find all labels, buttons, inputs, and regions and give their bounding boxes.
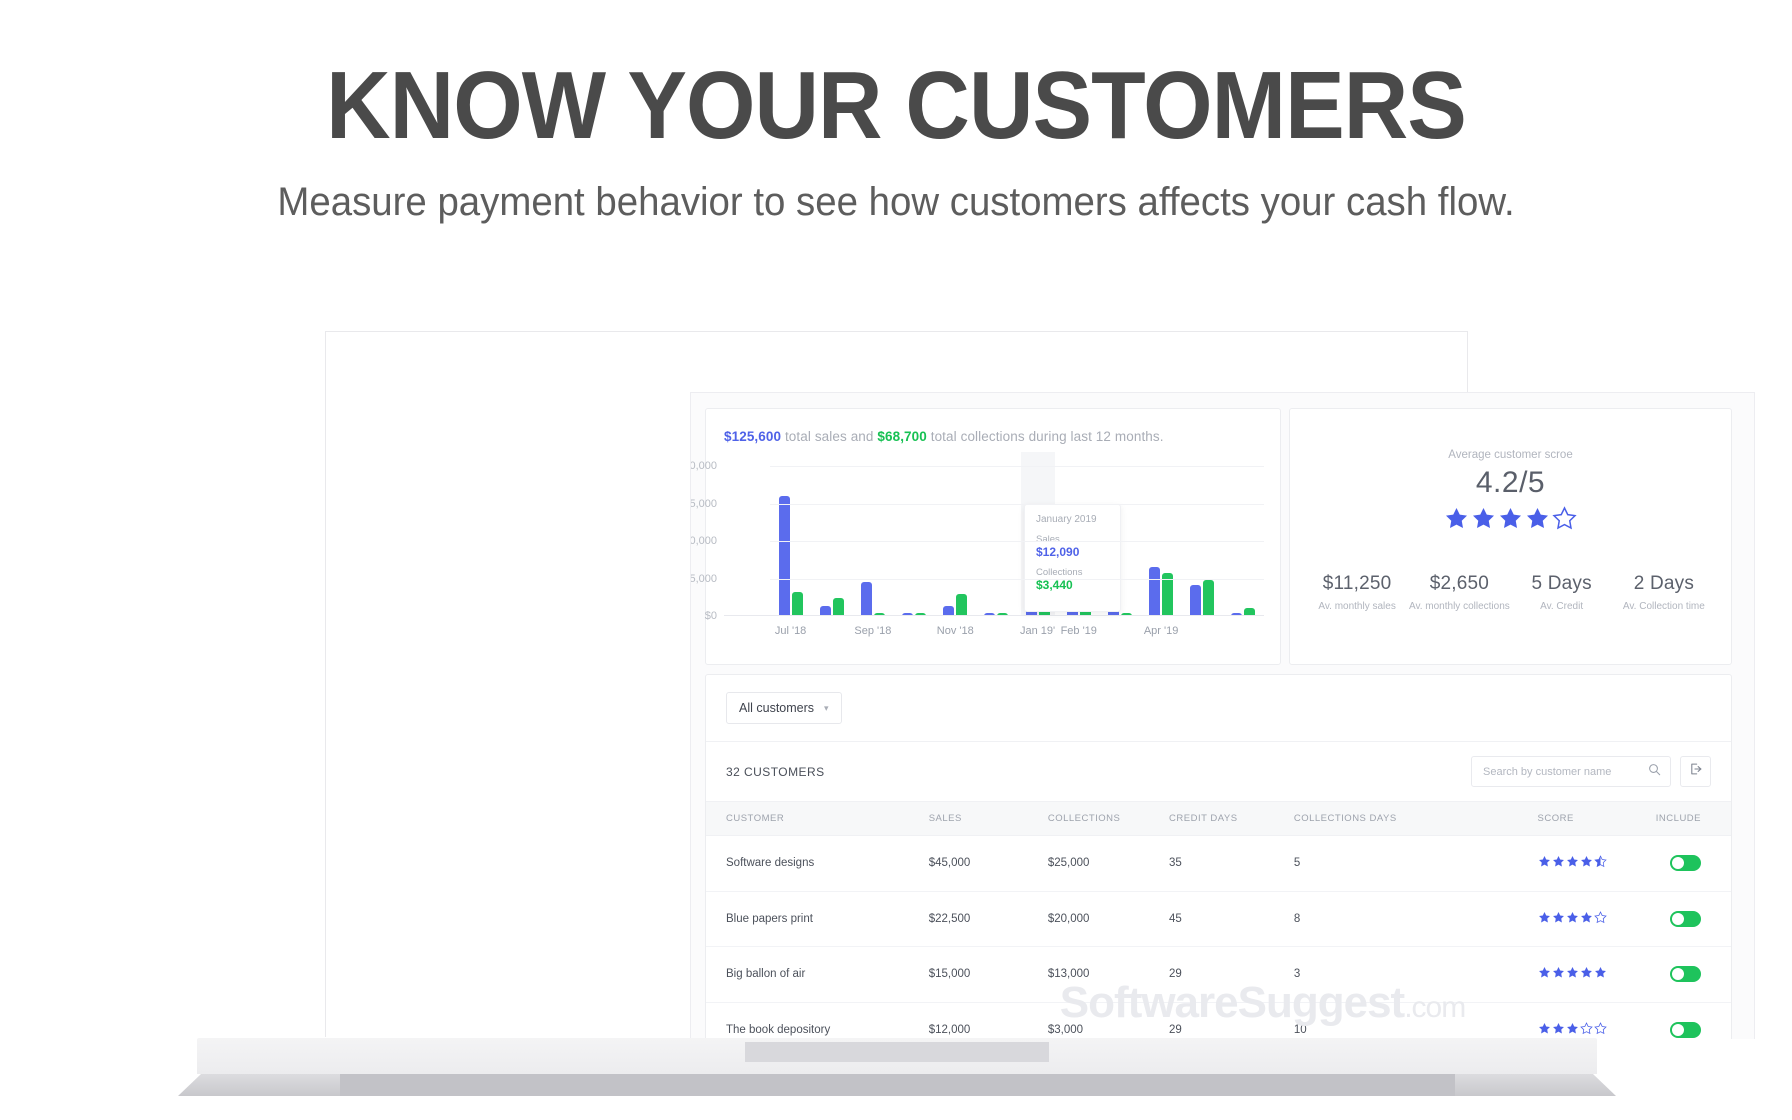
cell-customer: The book depository: [706, 1002, 929, 1039]
customer-filter-label: All customers: [739, 701, 814, 715]
dashboard-viewport: $125,600 total sales and $68,700 total c…: [690, 392, 1755, 1039]
table-row[interactable]: Software designs $45,000 $25,000 35 5: [706, 836, 1731, 892]
chart-gridline: [770, 579, 1264, 580]
star-icon-full: [1538, 966, 1551, 979]
cell-sales: $15,000: [929, 947, 1048, 1003]
star-icon-full: [1538, 855, 1551, 868]
table-column-header[interactable]: CUSTOMER: [706, 802, 929, 836]
summary-stat-1: $2,650 Av. monthly collections: [1408, 573, 1510, 614]
cell-include: [1656, 947, 1731, 1003]
total-sales-value: $125,600: [724, 429, 781, 444]
cell-score: [1538, 836, 1656, 892]
filter-bar: All customers ▾: [706, 675, 1731, 742]
chart-bar-collections: [1203, 580, 1214, 616]
customers-table-card: All customers ▾ 32 CUSTOMERS: [705, 674, 1732, 1039]
cell-credit-days: 29: [1169, 947, 1294, 1003]
chart-zero-axis: [724, 615, 1264, 616]
chart-bar-collections: [1162, 573, 1173, 616]
include-toggle[interactable]: [1670, 1022, 1701, 1038]
table-row[interactable]: Big ballon of air $15,000 $13,000 29 3: [706, 947, 1731, 1003]
chart-y-tick: $5,000: [690, 573, 717, 585]
star-icon-full: [1444, 506, 1469, 531]
chart-tooltip: January 2019 Sales $12,090 Collections $…: [1024, 504, 1121, 612]
customer-score-card: Average customer scroe 4.2/5 $11,250 Av.…: [1289, 408, 1732, 665]
cell-include: [1656, 891, 1731, 947]
chart-x-tick: Jul '18: [775, 625, 806, 637]
cell-customer: Software designs: [706, 836, 929, 892]
cell-sales: $45,000: [929, 836, 1048, 892]
table-header-row: CUSTOMERSALESCOLLECTIONSCREDIT DAYSCOLLE…: [706, 802, 1731, 836]
cell-collections: $25,000: [1048, 836, 1169, 892]
star-icon-full: [1566, 966, 1579, 979]
cell-credit-days: 45: [1169, 891, 1294, 947]
chart-x-tick: Feb '19: [1061, 625, 1097, 637]
chart-bar-group[interactable]: [779, 496, 803, 616]
star-icon-full: [1566, 1022, 1579, 1035]
tooltip-sales-value: $12,090: [1036, 545, 1110, 559]
customer-count-label: 32 CUSTOMERS: [726, 765, 825, 779]
summary-stat-value: $11,250: [1306, 573, 1408, 595]
star-icon-full: [1580, 966, 1593, 979]
search-icon[interactable]: [1648, 763, 1661, 781]
tooltip-sales-label: Sales: [1036, 534, 1110, 545]
star-icon-full: [1471, 506, 1496, 531]
summary-stat-label: Av. Collection time: [1613, 600, 1715, 614]
cell-sales: $12,000: [929, 1002, 1048, 1039]
chart-gridline: [770, 504, 1264, 505]
laptop-trackpad-notch: [745, 1042, 1049, 1062]
customer-filter-dropdown[interactable]: All customers ▾: [726, 692, 842, 724]
chart-bar-sales: [1190, 585, 1201, 617]
cell-collections-days: 10: [1294, 1002, 1538, 1039]
chart-bar-group[interactable]: [861, 582, 885, 617]
average-score-value: 4.2/5: [1290, 466, 1731, 500]
score-stars: [1538, 970, 1608, 982]
summary-stat-value: 5 Days: [1511, 573, 1613, 595]
star-icon-empty: [1580, 1022, 1593, 1035]
chart-bar-sales: [779, 496, 790, 616]
average-score-label: Average customer scroe: [1290, 449, 1731, 461]
cell-collections-days: 8: [1294, 891, 1538, 947]
cell-credit-days: 29: [1169, 1002, 1294, 1039]
cell-include: [1656, 836, 1731, 892]
bar-chart: January 2019 Sales $12,090 Collections $…: [724, 466, 1264, 616]
star-icon-full: [1594, 966, 1607, 979]
chart-y-tick: $10,000: [690, 535, 717, 547]
table-toolbar: 32 CUSTOMERS: [706, 742, 1731, 801]
summary-stat-label: Av. monthly sales: [1306, 600, 1408, 614]
chart-x-tick: Apr '19: [1144, 625, 1179, 637]
summary-stat-label: Av. Credit: [1511, 600, 1613, 614]
cell-customer: Blue papers print: [706, 891, 929, 947]
cell-collections: $3,000: [1048, 1002, 1169, 1039]
summary-stats-row: $11,250 Av. monthly sales $2,650 Av. mon…: [1290, 573, 1731, 614]
chart-bar-collections: [833, 598, 844, 616]
chevron-down-icon: ▾: [824, 703, 829, 714]
table-body: Software designs $45,000 $25,000 35 5 Bl…: [706, 836, 1731, 1040]
table-column-header[interactable]: SCORE: [1538, 802, 1656, 836]
chart-bar-group[interactable]: [820, 598, 844, 616]
tooltip-collections-value: $3,440: [1036, 578, 1110, 592]
star-icon-full: [1498, 506, 1523, 531]
cell-collections: $20,000: [1048, 891, 1169, 947]
table-column-header[interactable]: SALES: [929, 802, 1048, 836]
total-collections-value: $68,700: [877, 429, 927, 444]
cell-customer: Big ballon of air: [706, 947, 929, 1003]
cell-collections: $13,000: [1048, 947, 1169, 1003]
table-column-header[interactable]: INCLUDE: [1656, 802, 1731, 836]
cell-sales: $22,500: [929, 891, 1048, 947]
caption-tail: total collections during last 12 months.: [927, 429, 1164, 444]
cell-score: [1538, 947, 1656, 1003]
chart-bar-sales: [1149, 567, 1160, 616]
star-icon-full: [1566, 911, 1579, 924]
star-icon-empty: [1552, 506, 1577, 531]
star-icon-full: [1538, 1022, 1551, 1035]
summary-stat-2: 5 Days Av. Credit: [1511, 573, 1613, 614]
table-column-header[interactable]: COLLECTIONS DAYS: [1294, 802, 1538, 836]
table-column-header[interactable]: COLLECTIONS: [1048, 802, 1169, 836]
chart-y-tick: $15,000: [690, 498, 717, 510]
chart-caption: $125,600 total sales and $68,700 total c…: [724, 429, 1262, 444]
export-button[interactable]: [1680, 756, 1711, 787]
score-stars: [1538, 915, 1608, 927]
star-icon-full: [1566, 855, 1579, 868]
tooltip-collections-label: Collections: [1036, 567, 1110, 578]
table-column-header[interactable]: CREDIT DAYS: [1169, 802, 1294, 836]
summary-stat-0: $11,250 Av. monthly sales: [1306, 573, 1408, 614]
chart-bar-group[interactable]: [1190, 580, 1214, 616]
star-icon-full: [1538, 911, 1551, 924]
summary-stat-label: Av. monthly collections: [1408, 600, 1510, 614]
star-icon-full: [1552, 1022, 1565, 1035]
cell-score: [1538, 891, 1656, 947]
cell-credit-days: 35: [1169, 836, 1294, 892]
dashboard-top-row: $125,600 total sales and $68,700 total c…: [691, 393, 1754, 665]
chart-bar-collections: [956, 594, 967, 617]
star-icon-full: [1552, 855, 1565, 868]
score-stars: [1538, 1026, 1608, 1038]
star-icon-empty: [1594, 1022, 1607, 1035]
chart-x-tick: Jan 19': [1020, 625, 1055, 637]
chart-x-tick: Nov '18: [937, 625, 974, 637]
star-icon-full: [1552, 911, 1565, 924]
include-toggle[interactable]: [1670, 966, 1701, 982]
chart-bar-collections: [792, 592, 803, 616]
score-stars: [1538, 859, 1608, 871]
caption-mid: total sales and: [781, 429, 877, 444]
star-icon-full: [1552, 966, 1565, 979]
star-icon-full: [1580, 911, 1593, 924]
table-row[interactable]: Blue papers print $22,500 $20,000 45 8: [706, 891, 1731, 947]
customers-table: CUSTOMERSALESCOLLECTIONSCREDIT DAYSCOLLE…: [706, 801, 1731, 1039]
summary-stat-value: $2,650: [1408, 573, 1510, 595]
cell-score: [1538, 1002, 1656, 1039]
cell-include: [1656, 1002, 1731, 1039]
export-icon: [1689, 762, 1703, 781]
average-score-stars: [1290, 506, 1731, 535]
page-subtitle: Measure payment behavior to see how cust…: [36, 180, 1756, 225]
laptop-mockup: $125,600 total sales and $68,700 total c…: [0, 320, 1792, 1120]
search-input[interactable]: [1483, 766, 1642, 778]
summary-stat-value: 2 Days: [1613, 573, 1715, 595]
cell-collections-days: 5: [1294, 836, 1538, 892]
cell-collections-days: 3: [1294, 947, 1538, 1003]
include-toggle[interactable]: [1670, 855, 1701, 871]
chart-bar-group[interactable]: [943, 594, 967, 617]
star-icon-full: [1580, 855, 1593, 868]
chart-x-tick: Sep '18: [854, 625, 891, 637]
chart-y-tick: $20,000: [690, 460, 717, 472]
chart-bar-group[interactable]: [1149, 567, 1173, 616]
hero-section: KNOW YOUR CUSTOMERS Measure payment beha…: [0, 0, 1792, 225]
sales-collections-chart-card: $125,600 total sales and $68,700 total c…: [705, 408, 1281, 665]
star-icon-full: [1525, 506, 1550, 531]
table-row[interactable]: The book depository $12,000 $3,000 29 10: [706, 1002, 1731, 1039]
laptop-foot-lip: [340, 1074, 1455, 1096]
search-box[interactable]: [1471, 756, 1671, 787]
star-icon-empty: [1594, 911, 1607, 924]
include-toggle[interactable]: [1670, 911, 1701, 927]
star-icon-half: [1594, 855, 1607, 868]
tooltip-date: January 2019: [1036, 514, 1110, 525]
page-title: KNOW YOUR CUSTOMERS: [63, 58, 1730, 154]
laptop-screen: $125,600 total sales and $68,700 total c…: [325, 331, 1468, 1037]
summary-stat-3: 2 Days Av. Collection time: [1613, 573, 1715, 614]
chart-bar-sales: [861, 582, 872, 617]
chart-gridline: [770, 541, 1264, 542]
chart-y-tick: $0: [705, 610, 717, 622]
chart-gridline: [770, 466, 1264, 467]
